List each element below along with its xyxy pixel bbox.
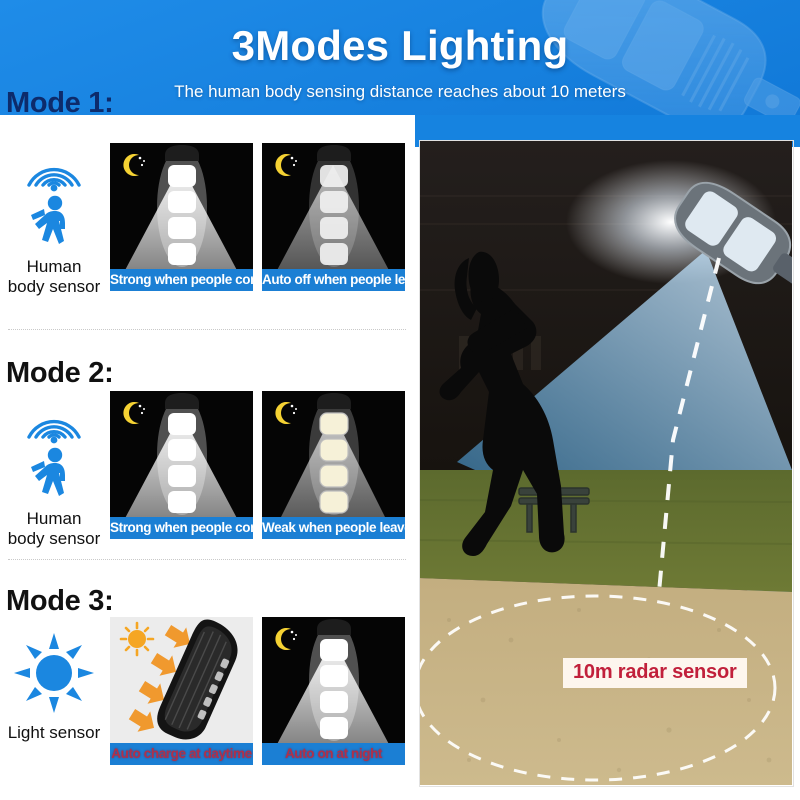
mode-1-sensor: Human body sensor bbox=[0, 145, 108, 296]
moon-icon bbox=[271, 625, 299, 653]
mode-row-2: Mode 2: H bbox=[0, 347, 415, 575]
mode-2-title: Mode 2: bbox=[6, 359, 113, 388]
moon-icon bbox=[119, 399, 147, 427]
human-body-sensor-icon bbox=[15, 145, 93, 253]
mode-separator-1 bbox=[8, 329, 406, 330]
modes-column: Mode 1: H bbox=[0, 115, 415, 800]
mode-2-sensor: Human body sensor bbox=[0, 397, 108, 548]
mode-1-tile-1: Strong when people comes bbox=[110, 143, 253, 291]
mode-1-tile-2-caption: Auto off when people leaves bbox=[262, 269, 405, 291]
mode-3-tile-1: Auto charge at daytime bbox=[110, 617, 253, 765]
lamp-head-on bbox=[308, 393, 360, 515]
mode-2-tile-1-caption: Strong when people comes bbox=[110, 517, 253, 539]
lamp-head-on bbox=[308, 145, 360, 267]
lamp-head-on bbox=[156, 393, 208, 515]
mode-3-tile-2: Auto on at night bbox=[262, 617, 405, 765]
mode-2-tile-2-caption: Weak when people leaves bbox=[262, 517, 405, 539]
sensor-label-line2: body sensor bbox=[0, 277, 108, 297]
mode-3-sensor: Light sensor bbox=[0, 627, 108, 743]
mode-2-sensor-label: Human body sensor bbox=[0, 509, 108, 548]
header-subtitle: The human body sensing distance reaches … bbox=[0, 82, 800, 102]
mode-2-tile-1: Strong when people comes bbox=[110, 391, 253, 539]
mode-row-1: Mode 1: H bbox=[0, 115, 415, 347]
lamp-head-on bbox=[156, 145, 208, 267]
light-sensor-icon bbox=[9, 627, 99, 719]
sun-icon bbox=[121, 623, 153, 655]
night-street-radar-scene bbox=[419, 140, 792, 785]
header-banner: 3Modes Lighting The human body sensing d… bbox=[0, 0, 800, 115]
sensor-label-line2: body sensor bbox=[0, 529, 108, 549]
mode-1-tile-1-caption: Strong when people comes bbox=[110, 269, 253, 291]
infographic-page: 3Modes Lighting The human body sensing d… bbox=[0, 0, 800, 800]
moon-icon bbox=[119, 151, 147, 179]
radar-scene-panel: 10m radar sensor bbox=[419, 140, 792, 785]
mode-3-tile-2-caption: Auto on at night bbox=[262, 743, 405, 765]
mode-3-tile-1-caption: Auto charge at daytime bbox=[110, 743, 253, 765]
human-body-sensor-icon bbox=[15, 397, 93, 505]
lamp-head-on bbox=[308, 619, 360, 741]
mode-1-tile-2: Auto off when people leaves bbox=[262, 143, 405, 291]
moon-icon bbox=[271, 151, 299, 179]
mode-1-title: Mode 1: bbox=[6, 89, 113, 118]
sensor-label-line1: Light sensor bbox=[0, 723, 119, 743]
radar-range-badge: 10m radar sensor bbox=[563, 658, 747, 688]
mode-row-3: Mode 3: Light sens bbox=[0, 575, 415, 800]
mode-2-tile-2: Weak when people leaves bbox=[262, 391, 405, 539]
mode-separator-2 bbox=[8, 559, 406, 560]
mode-3-sensor-label: Light sensor bbox=[0, 723, 119, 743]
sensor-label-line1: Human bbox=[0, 257, 108, 277]
page-title: 3Modes Lighting bbox=[0, 22, 800, 70]
mode-1-sensor-label: Human body sensor bbox=[0, 257, 108, 296]
sensor-label-line1: Human bbox=[0, 509, 108, 529]
mode-3-title: Mode 3: bbox=[6, 587, 113, 616]
moon-icon bbox=[271, 399, 299, 427]
